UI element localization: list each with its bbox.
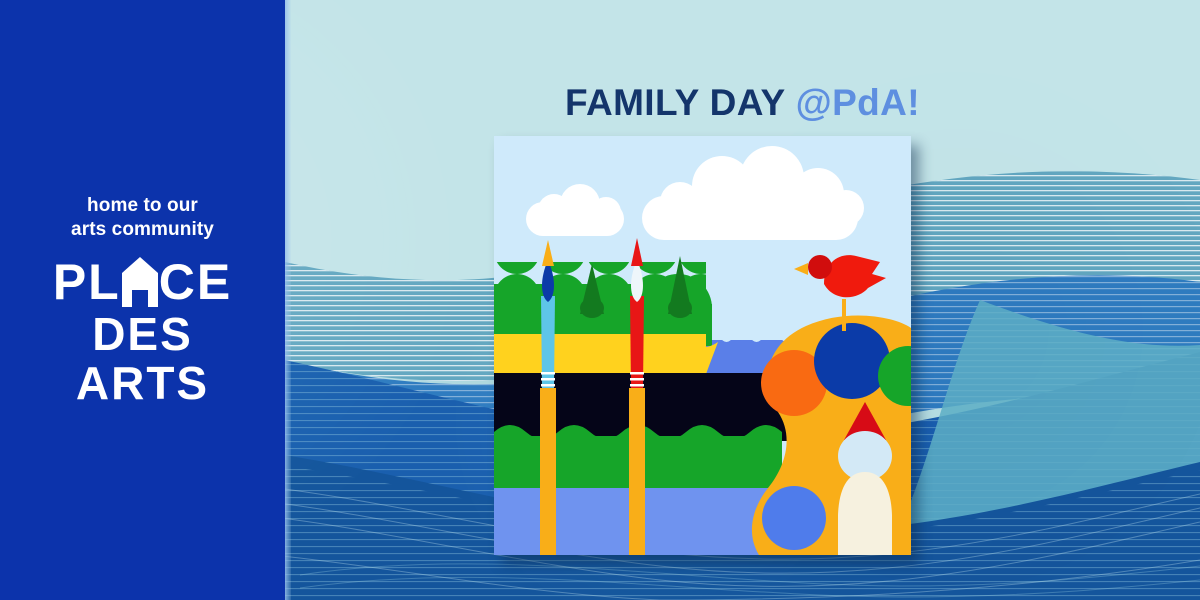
red-paintbrush: [629, 238, 645, 555]
bird-leg: [842, 299, 846, 331]
blue-dot: [762, 486, 826, 550]
place-des-arts-logo: PL CE DES ARTS: [53, 257, 232, 406]
blue-paintbrush: [540, 240, 556, 555]
bird-head: [808, 255, 832, 279]
house-a-glyph-icon: [121, 257, 159, 307]
tagline-line-1: home to our: [71, 194, 214, 218]
artwork-card[interactable]: [494, 136, 911, 555]
artwork-illustration: [494, 136, 911, 555]
navy-dot: [814, 323, 890, 399]
gnome-body: [838, 472, 892, 555]
brand-panel: home to our arts community PL CE DES ART…: [0, 0, 285, 600]
event-banner: home to our arts community PL CE DES ART…: [0, 0, 1200, 600]
logo-ce: CE: [159, 259, 232, 307]
headline-part-1: FAMILY DAY: [565, 82, 796, 123]
headline-part-2: @PdA!: [796, 82, 920, 123]
logo-line-place: PL CE: [53, 257, 232, 307]
logo-line-des: DES: [92, 313, 193, 357]
page-title: FAMILY DAY @PdA!: [285, 82, 1200, 124]
tagline: home to our arts community: [71, 194, 214, 243]
sand-band: [494, 334, 718, 374]
tagline-line-2: arts community: [71, 218, 214, 242]
logo-line-arts: ARTS: [76, 362, 209, 406]
logo-pl: PL: [53, 259, 121, 307]
